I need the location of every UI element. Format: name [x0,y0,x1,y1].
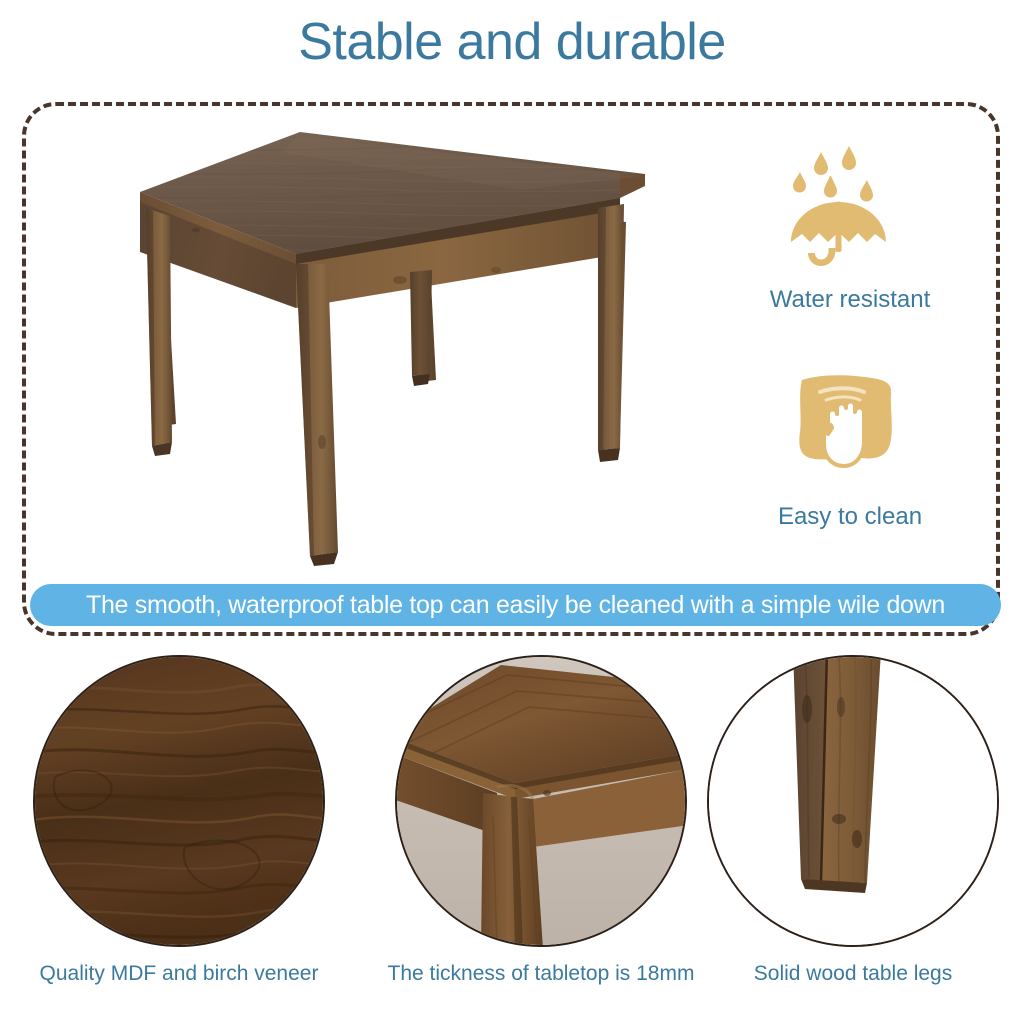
banner-text: The smooth, waterproof table top can eas… [86,591,945,620]
table-corner-edge-closeup [395,655,687,947]
feature-easy-to-clean: Easy to clean [700,357,1000,532]
waterproof-caption-banner: The smooth, waterproof table top can eas… [30,584,1001,626]
feature-list: Water resistant Easy to clean [700,140,1000,574]
wipe-cloth-hand-icon [700,357,1000,497]
detail-caption: The tickness of tabletop is 18mm [371,961,711,987]
square-dining-table-photo [100,112,680,572]
detail-circles-row: Quality MDF and birch veneer [0,650,1024,1024]
feature-water-resistant: Water resistant [700,140,1000,315]
detail-item-thickness: The tickness of tabletop is 18mm [371,650,711,987]
detail-item-legs: Solid wood table legs [683,650,1023,987]
page-title: Stable and durable [0,14,1024,71]
feature-label: Easy to clean [700,503,1000,532]
tabletop-wood-grain-closeup [33,655,325,947]
feature-label: Water resistant [700,286,1000,315]
product-infographic: Stable and durable [0,0,1024,1024]
table-leg-closeup [707,655,999,947]
umbrella-rain-icon [700,140,1000,280]
detail-caption: Quality MDF and birch veneer [9,961,349,987]
detail-item-veneer: Quality MDF and birch veneer [9,650,349,987]
detail-caption: Solid wood table legs [683,961,1023,987]
